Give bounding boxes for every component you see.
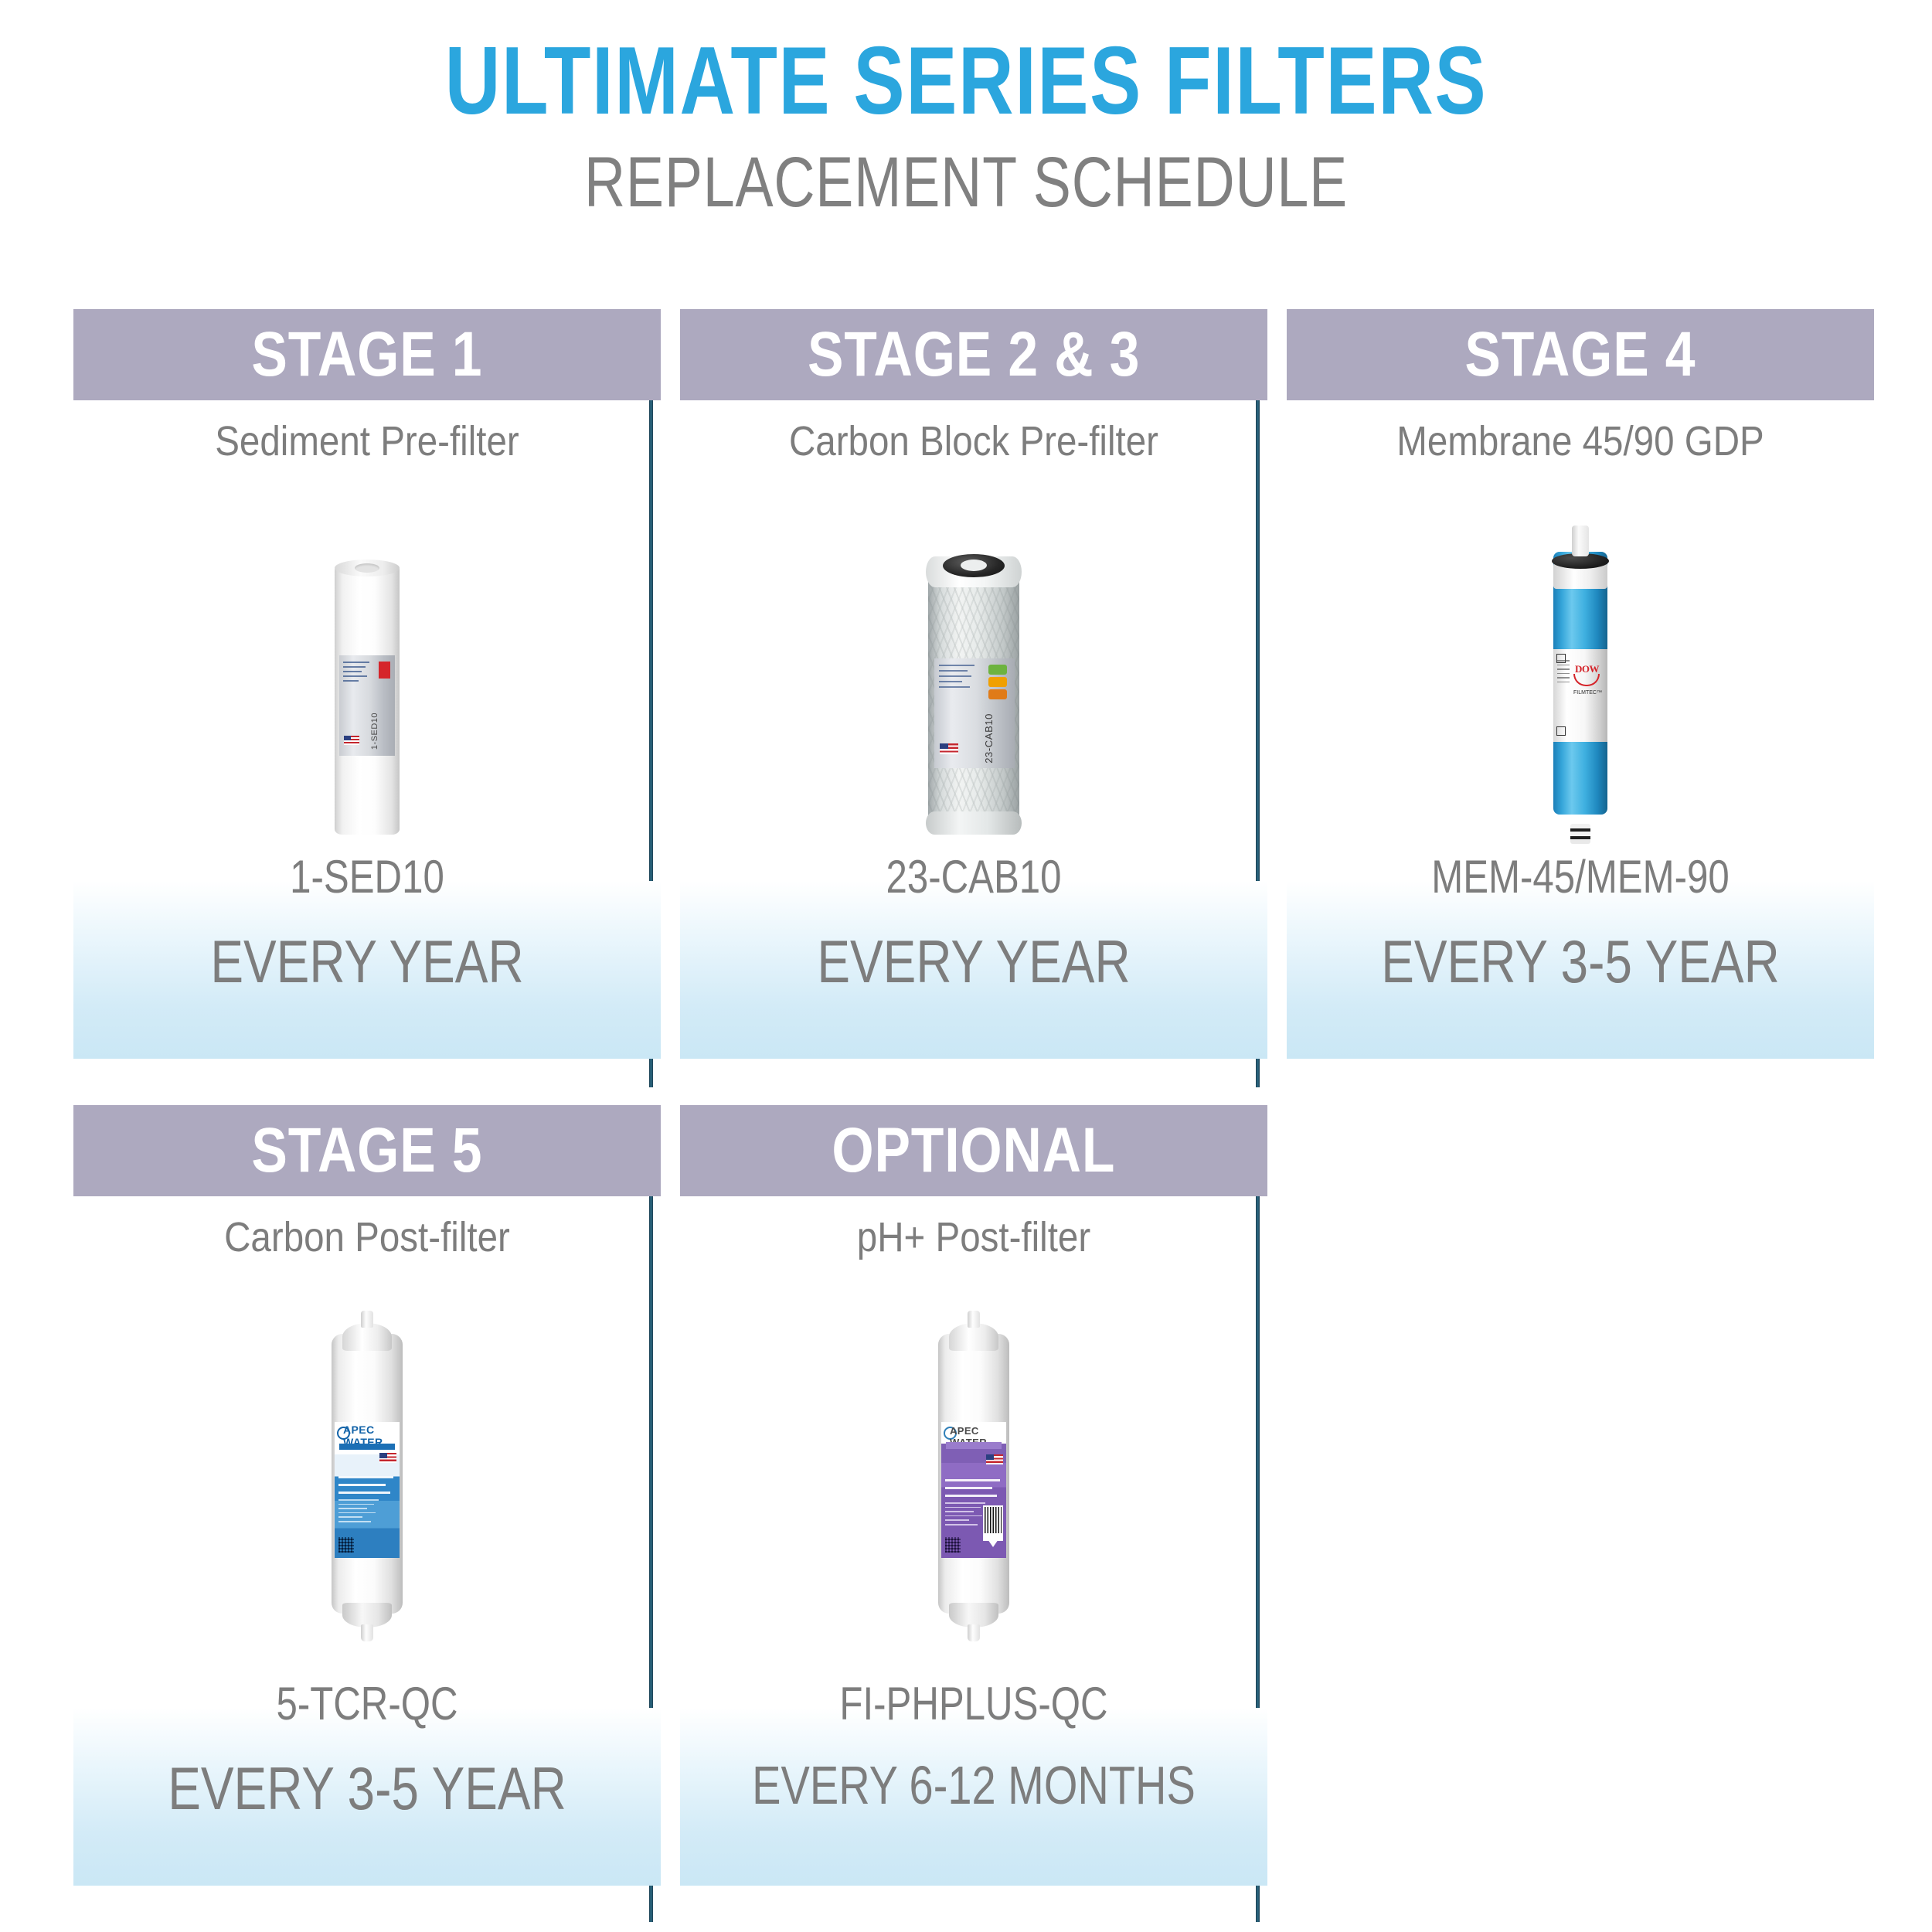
stage-header-bar: OPTIONAL bbox=[680, 1105, 1267, 1196]
label-bullet-lines bbox=[945, 1479, 1002, 1502]
card-optional[interactable]: OPTIONAL pH+ Post-filter APEC WATER bbox=[680, 1105, 1267, 1924]
model-number: MEM-45/MEM-90 bbox=[1339, 850, 1821, 903]
stage-label: STAGE 4 bbox=[1464, 318, 1696, 391]
product-image-area: 23-CAB10 bbox=[680, 479, 1267, 835]
label-bullet-lines bbox=[338, 1476, 396, 1499]
product-name: Sediment Pre-filter bbox=[109, 417, 626, 465]
cartridge-label: APEC WATER FI-PHPLUS-QC bbox=[941, 1422, 1006, 1558]
cards-row-1: STAGE 1 Sediment Pre-filter 1-SED10 bbox=[0, 309, 1932, 1105]
filter-core-hole bbox=[355, 563, 379, 573]
label-url-bar bbox=[339, 1444, 395, 1450]
cards-grid: STAGE 1 Sediment Pre-filter 1-SED10 bbox=[0, 309, 1932, 1924]
label-text-lines bbox=[343, 662, 369, 685]
stage-label: STAGE 1 bbox=[251, 318, 482, 391]
label-model-text: FI-PHPLUS-QC bbox=[998, 1456, 1006, 1465]
barcode-icon bbox=[983, 1505, 1003, 1541]
card-stage-5[interactable]: STAGE 5 Carbon Post-filter APEC WATER bbox=[73, 1105, 661, 1924]
stage-label: STAGE 5 bbox=[251, 1114, 482, 1187]
membrane-label: DOW FILMTEC™ bbox=[1553, 649, 1607, 742]
label-spec-lines bbox=[945, 1502, 985, 1529]
carbon-block-filter-image: 23-CAB10 bbox=[928, 556, 1019, 835]
cartridge-bottom-fitting bbox=[968, 1624, 980, 1641]
ro-membrane-image: DOW FILMTEC™ bbox=[1552, 526, 1609, 835]
card-empty-slot bbox=[1287, 1105, 1874, 1924]
cards-row-2: STAGE 5 Carbon Post-filter APEC WATER bbox=[0, 1105, 1932, 1924]
ph-plus-post-filter-image: APEC WATER FI-PHPLUS-QC bbox=[938, 1321, 1009, 1631]
label-spec-lines bbox=[338, 1499, 379, 1526]
qr-code-icon bbox=[338, 1537, 354, 1553]
replacement-schedule: EVERY 6-12 MONTHS bbox=[739, 1758, 1209, 1812]
cartridge-top-fitting bbox=[968, 1311, 980, 1328]
header-block: ULTIMATE SERIES FILTERS REPLACEMENT SCHE… bbox=[0, 31, 1932, 220]
cartridge-top-fitting bbox=[361, 1311, 373, 1328]
stage-label: OPTIONAL bbox=[832, 1114, 1116, 1187]
label-model-text: 23-CAB10 bbox=[983, 713, 995, 764]
model-number: 23-CAB10 bbox=[733, 850, 1214, 903]
replacement-schedule: EVERY 3-5 YEAR bbox=[126, 1758, 607, 1818]
stage-header-bar: STAGE 2 & 3 bbox=[680, 309, 1267, 400]
cert-mark-icon bbox=[1556, 726, 1566, 736]
filmtec-text: FILMTEC™ bbox=[1573, 689, 1602, 698]
card-stage-1[interactable]: STAGE 1 Sediment Pre-filter 1-SED10 bbox=[73, 309, 661, 1105]
replacement-schedule: EVERY 3-5 YEAR bbox=[1339, 931, 1821, 992]
brand-mark-icon bbox=[379, 662, 390, 679]
card-stage-4[interactable]: STAGE 4 Membrane 45/90 GDP DOW FILMTEC™ bbox=[1287, 309, 1874, 1105]
model-number: FI-PHPLUS-QC bbox=[733, 1677, 1214, 1730]
product-name: pH+ Post-filter bbox=[716, 1213, 1233, 1261]
dow-brand-text: DOW bbox=[1575, 663, 1599, 675]
filter-bottom-cap bbox=[926, 811, 1022, 835]
label-url-bar bbox=[946, 1442, 1002, 1449]
stage-header-bar: STAGE 1 bbox=[73, 309, 661, 400]
product-name: Membrane 45/90 GDP bbox=[1322, 417, 1839, 465]
stage-header-bar: STAGE 4 bbox=[1287, 309, 1874, 400]
carbon-post-filter-image: APEC WATER 5-TCR-QC bbox=[332, 1321, 403, 1631]
filter-label: 23-CAB10 bbox=[934, 658, 1015, 768]
product-name: Carbon Block Pre-filter bbox=[716, 417, 1233, 465]
membrane-fitting bbox=[1570, 824, 1590, 844]
rubber-gasket-icon bbox=[943, 554, 1005, 577]
label-text-lines bbox=[939, 665, 975, 692]
arrow-icon bbox=[986, 1537, 1000, 1547]
cartridge-label: APEC WATER 5-TCR-QC bbox=[335, 1422, 400, 1558]
filter-label: 1-SED10 bbox=[339, 655, 395, 756]
label-model-text: 5-TCR-QC bbox=[391, 1454, 400, 1464]
replacement-schedule: EVERY YEAR bbox=[126, 931, 607, 992]
stage-header-bar: STAGE 5 bbox=[73, 1105, 661, 1196]
sediment-filter-image: 1-SED10 bbox=[335, 564, 400, 835]
infographic-page: ULTIMATE SERIES FILTERS REPLACEMENT SCHE… bbox=[0, 0, 1932, 1932]
product-image-area: DOW FILMTEC™ bbox=[1287, 479, 1874, 835]
qr-code-icon bbox=[945, 1537, 961, 1553]
label-text-lines bbox=[1557, 660, 1570, 685]
card-stage-2-3[interactable]: STAGE 2 & 3 Carbon Block Pre-filter 23 bbox=[680, 309, 1267, 1105]
label-model-text: 1-SED10 bbox=[370, 713, 379, 750]
stage-label: STAGE 2 & 3 bbox=[808, 318, 1140, 391]
page-title: ULTIMATE SERIES FILTERS bbox=[193, 31, 1739, 131]
replacement-schedule: EVERY YEAR bbox=[733, 931, 1214, 992]
product-image-area: APEC WATER 5-TCR-QC bbox=[73, 1275, 661, 1631]
product-image-area: 1-SED10 bbox=[73, 479, 661, 835]
page-subtitle: REPLACEMENT SCHEDULE bbox=[193, 145, 1739, 220]
membrane-stem bbox=[1572, 526, 1589, 556]
cartridge-bottom-fitting bbox=[361, 1624, 373, 1641]
brand-logo-icon bbox=[988, 665, 1009, 700]
model-number: 1-SED10 bbox=[126, 850, 607, 903]
product-name: Carbon Post-filter bbox=[109, 1213, 626, 1261]
model-number: 5-TCR-QC bbox=[126, 1677, 607, 1730]
product-image-area: APEC WATER FI-PHPLUS-QC bbox=[680, 1275, 1267, 1631]
usa-flag-icon bbox=[344, 736, 359, 745]
usa-flag-icon bbox=[940, 743, 958, 754]
